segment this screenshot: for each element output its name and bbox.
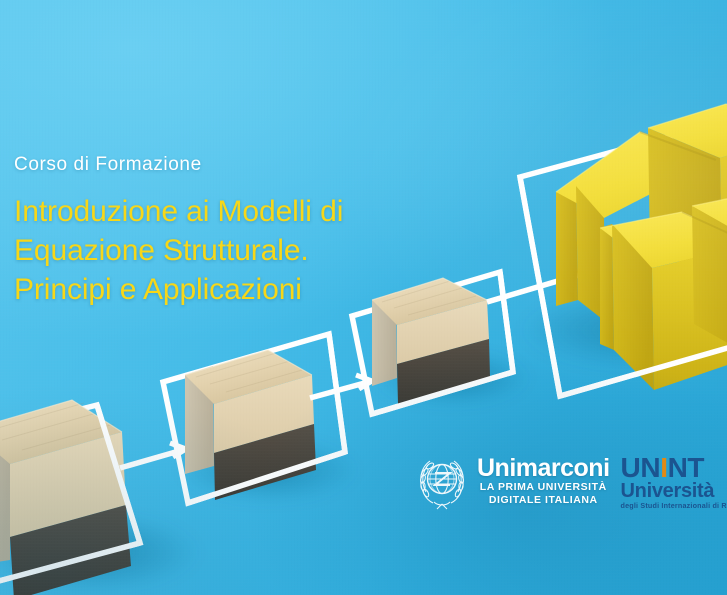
unimarconi-name: Unimarconi bbox=[477, 454, 610, 482]
poster-text-block: Corso di Formazione Introduzione ai Mode… bbox=[14, 154, 444, 309]
page-title-line-3: Principi e Applicazioni bbox=[14, 270, 444, 309]
unimarconi-tagline-1: LA PRIMA UNIVERSITÀ bbox=[477, 481, 610, 494]
course-promo-poster: Corso di Formazione Introduzione ai Mode… bbox=[0, 0, 727, 595]
unint-acronym: UNINT bbox=[621, 454, 727, 481]
eyebrow-label: Corso di Formazione bbox=[14, 154, 444, 177]
unint-universita-word: Università bbox=[621, 481, 727, 501]
unimarconi-logo: Unimarconi LA PRIMA UNIVERSITÀ DIGITALE … bbox=[415, 452, 610, 510]
unint-acronym-prefix: UN bbox=[621, 452, 661, 483]
unint-acronym-accent: I bbox=[660, 452, 667, 483]
unimarconi-tagline-2: DIGITALE ITALIANA bbox=[477, 494, 610, 507]
unint-logo: UNINT Università degli Studi Internazion… bbox=[621, 452, 727, 510]
page-title-line-1: Introduzione ai Modelli di bbox=[14, 192, 444, 231]
page-title-line-2: Equazione Strutturale. bbox=[14, 231, 444, 270]
unint-acronym-suffix: NT bbox=[668, 452, 705, 483]
globe-laurel-emblem-icon bbox=[415, 452, 469, 510]
logo-bar: Unimarconi LA PRIMA UNIVERSITÀ DIGITALE … bbox=[415, 452, 727, 510]
unint-tagline: degli Studi Internazionali di Roma bbox=[621, 501, 727, 510]
unimarconi-wordmark: Unimarconi LA PRIMA UNIVERSITÀ DIGITALE … bbox=[477, 456, 610, 507]
page-title: Introduzione ai Modelli di Equazione Str… bbox=[14, 192, 444, 309]
